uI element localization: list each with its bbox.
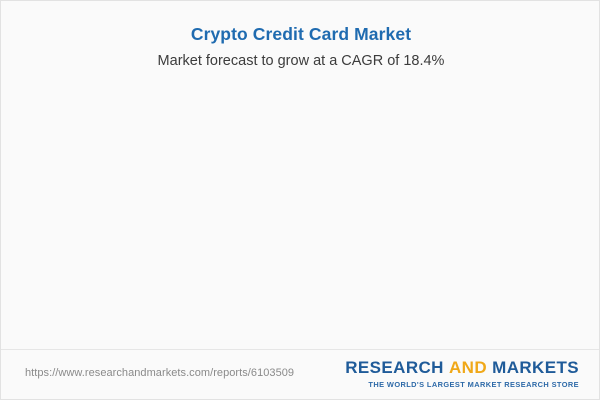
chart-plot-area: USD 1.81 Billion	[1, 1, 600, 351]
brand-wordmark: RESEARCH AND MARKETS	[345, 358, 579, 377]
brand-tagline: THE WORLD'S LARGEST MARKET RESEARCH STOR…	[345, 379, 579, 390]
source-url-link[interactable]: https://www.researchandmarkets.com/repor…	[25, 367, 294, 379]
brand-word-research: RESEARCH	[345, 358, 444, 377]
chart-card: Crypto Credit Card Market Market forecas…	[0, 0, 600, 400]
brand-word-markets: MARKETS	[492, 358, 579, 377]
brand-word-and: AND	[449, 358, 487, 377]
footer: https://www.researchandmarkets.com/repor…	[1, 349, 600, 399]
brand-logo[interactable]: RESEARCH AND MARKETS THE WORLD'S LARGEST…	[345, 358, 579, 390]
